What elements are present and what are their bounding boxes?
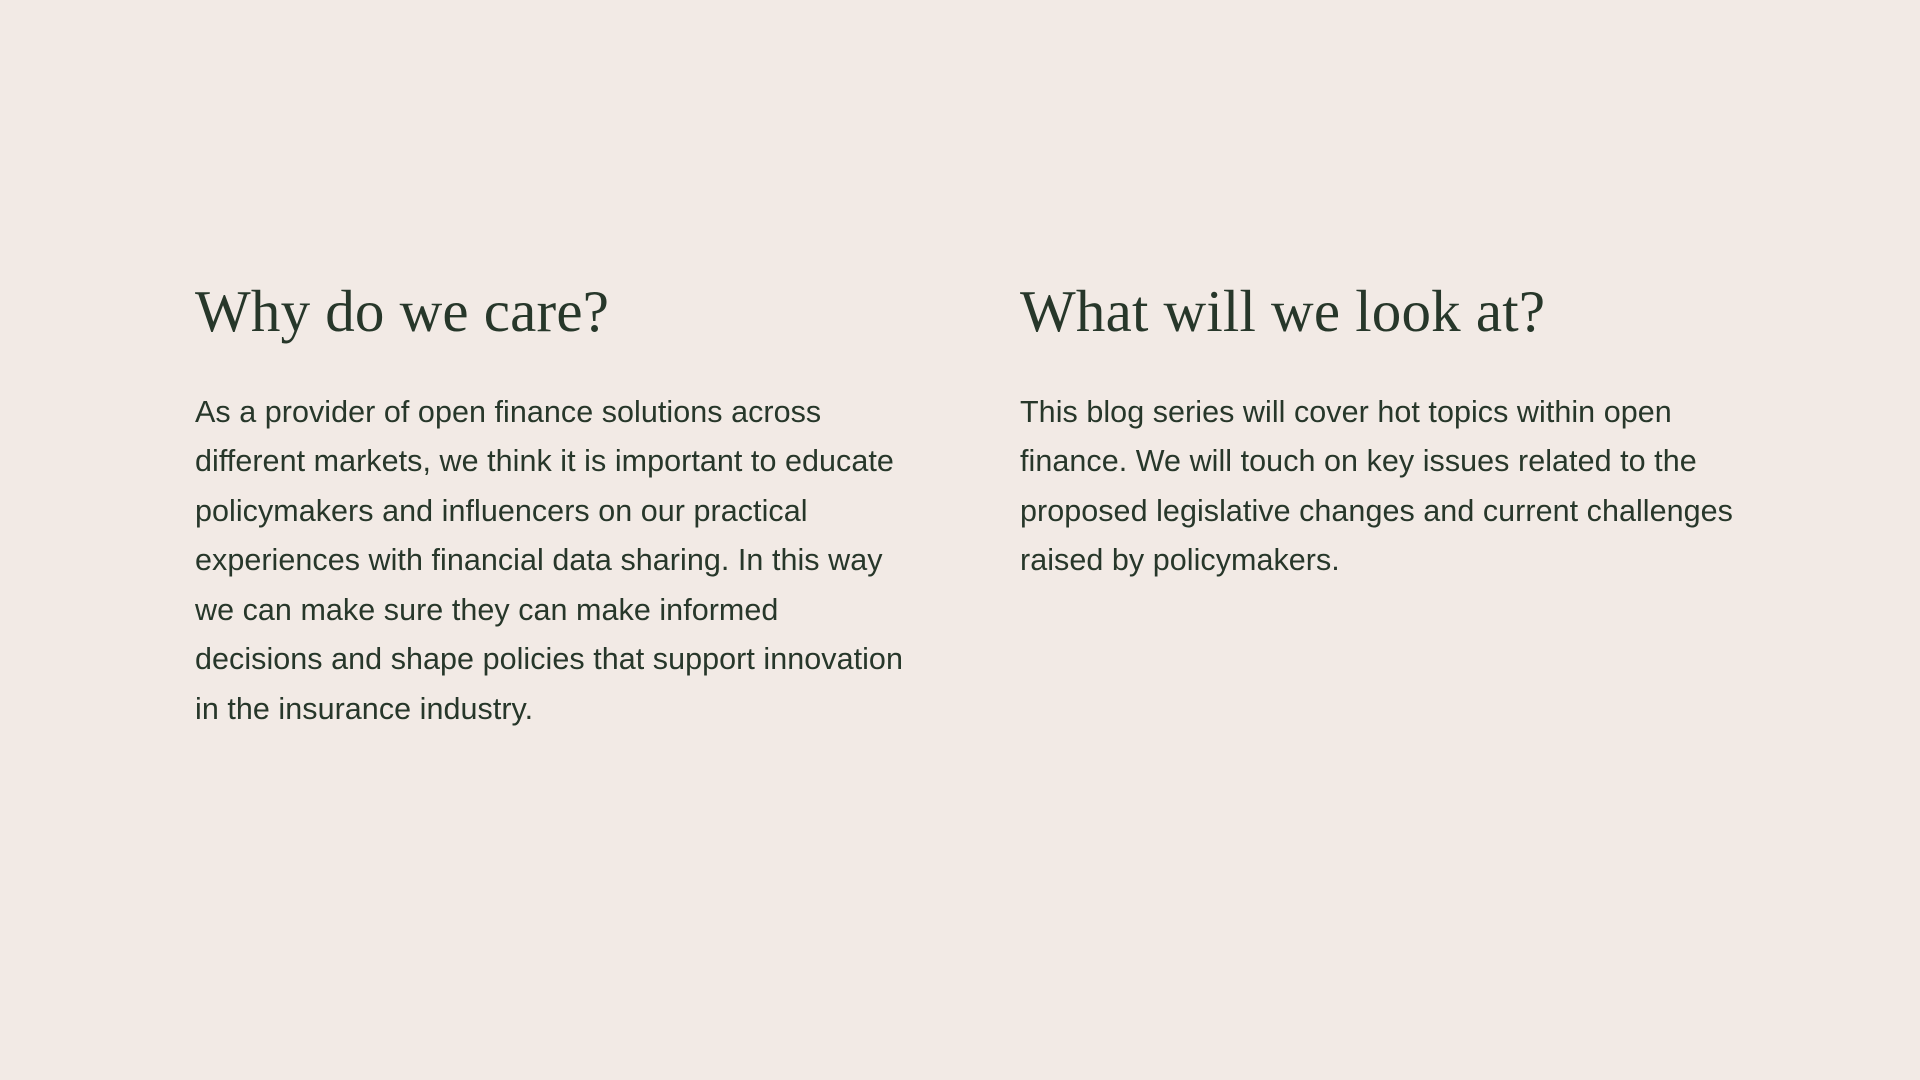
heading-what-will-we-look-at: What will we look at? [1020, 280, 1755, 344]
column-what-will-we-look-at: What will we look at? This blog series w… [1020, 280, 1755, 586]
column-why-do-we-care: Why do we care? As a provider of open fi… [195, 280, 910, 734]
body-what-will-we-look-at: This blog series will cover hot topics w… [1020, 388, 1750, 586]
heading-why-do-we-care: Why do we care? [195, 280, 910, 344]
two-column-content: Why do we care? As a provider of open fi… [195, 280, 1755, 734]
slide-canvas: Why do we care? As a provider of open fi… [0, 0, 1920, 1080]
body-why-do-we-care: As a provider of open finance solutions … [195, 388, 907, 735]
